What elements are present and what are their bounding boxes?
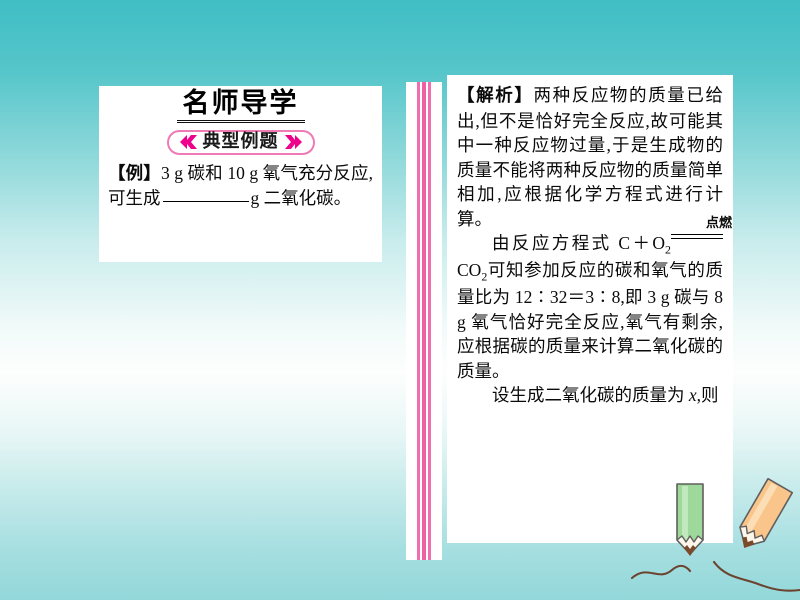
card-title-row: 名师导学 — [99, 86, 382, 123]
answer-blank[interactable] — [163, 201, 249, 202]
banner-row: 典型例题 — [99, 130, 382, 155]
double-chevron-left-icon — [178, 134, 198, 150]
page-title: 名师导学 — [177, 90, 305, 123]
orange-pencil-icon — [732, 479, 792, 555]
divider-stripe-left — [417, 82, 420, 560]
squiggle-line-right — [714, 562, 800, 591]
equation-product-co2: CO — [457, 260, 481, 280]
equation-reactant-oxygen: O — [652, 233, 665, 253]
arrow-bar-lower — [671, 238, 723, 239]
analysis-paragraph-1: 【解析】两种反应物的质量已给出,但不是恰好完全反应,故可能其中一种反应物过量,于… — [457, 83, 723, 231]
reaction-condition-arrow-icon: 点燃 — [671, 232, 723, 250]
green-pencil-icon — [677, 484, 703, 556]
analysis-card: 【解析】两种反应物的质量已给出,但不是恰好完全反应,故可能其中一种反应物过量,于… — [447, 75, 733, 543]
divider-stripe-right — [428, 82, 431, 560]
squiggle-line-left — [632, 566, 690, 578]
analysis-paragraph-1-text: 两种反应物的质量已给出,但不是恰好完全反应,故可能其中一种反应物过量,于是生成物… — [457, 85, 723, 229]
variable-x: x — [689, 385, 697, 405]
set-variable-text-after: ,则 — [697, 385, 719, 405]
equation-lead-text: 由反应方程式 C — [492, 233, 630, 253]
analysis-paragraph-2: 由反应方程式 C＋O2 点燃 CO2可知参加反应的碳和氧气的质量比为 12∶32… — [457, 231, 723, 383]
pencil-decoration — [630, 478, 800, 600]
panel-divider — [406, 82, 442, 560]
example-question-text: 【例】3 g 碳和 10 g 氧气充分反应,可生成g 二氧化碳。 — [108, 161, 373, 210]
set-variable-text-before: 设生成二氧化碳的质量为 — [492, 385, 685, 405]
reaction-condition-label: 点燃 — [671, 217, 723, 230]
arrow-bar-upper — [671, 234, 723, 235]
example-text-after-blank: g 二氧化碳。 — [251, 188, 352, 208]
typical-example-banner: 典型例题 — [167, 130, 315, 155]
example-tag: 【例】 — [108, 164, 161, 184]
example-card: 名师导学 典型例题 【例】3 g 碳和 10 g 氧气充分反应,可生成g 二氧化… — [99, 86, 382, 262]
double-chevron-right-icon — [284, 134, 304, 150]
divider-stripe-center — [422, 82, 426, 560]
banner-label: 典型例题 — [203, 133, 279, 151]
equation-plus-sign: ＋ — [630, 233, 652, 253]
equation-following-text: 可知参加反应的碳和氧气的质量比为 12∶32＝3∶8,即 3 g 碳与 8 g … — [457, 260, 723, 381]
slide-canvas: 名师导学 典型例题 【例】3 g 碳和 10 g 氧气充分反应,可生成g 二氧化… — [0, 0, 800, 600]
analysis-paragraph-3: 设生成二氧化碳的质量为 x,则 — [457, 383, 723, 408]
analysis-tag: 【解析】 — [457, 86, 533, 106]
